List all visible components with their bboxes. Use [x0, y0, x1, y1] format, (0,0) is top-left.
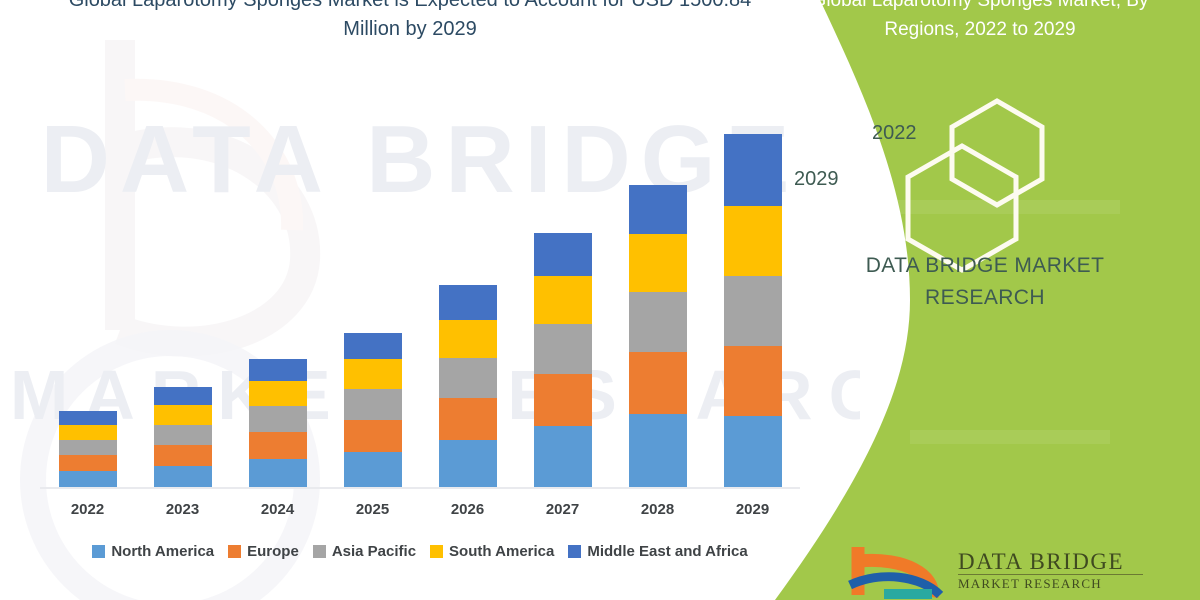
bar-segment[interactable] [534, 426, 592, 488]
chart-legend: North AmericaEuropeAsia PacificSouth Ame… [40, 538, 800, 564]
bar-group-2024[interactable] [249, 359, 307, 488]
hexagon-group [900, 85, 1120, 225]
bar-segment[interactable] [59, 455, 117, 471]
branding-panel: Global Laparotomy Sponges Market, By Reg… [760, 0, 1200, 600]
bar-segment[interactable] [534, 276, 592, 324]
company-logo: DATA BRIDGE MARKET RESEARCH [840, 545, 1170, 600]
bar-segment[interactable] [154, 387, 212, 405]
bar-segment[interactable] [629, 292, 687, 352]
bar-segment[interactable] [154, 425, 212, 445]
bar-segment[interactable] [249, 459, 307, 488]
bar-segment[interactable] [59, 471, 117, 488]
x-axis-label-2024: 2024 [249, 501, 307, 518]
legend-item[interactable]: Middle East and Africa [568, 543, 747, 560]
hexagon-2022-label: 2022 [872, 122, 917, 145]
bar-segment[interactable] [154, 445, 212, 466]
hexagon-2022-icon [952, 101, 1042, 205]
x-axis-label-2025: 2025 [344, 501, 402, 518]
bar-segment[interactable] [534, 374, 592, 426]
bar-group-2026[interactable] [439, 285, 497, 488]
hexagon-2029-label: 2029 [794, 168, 839, 191]
panel-title: Global Laparotomy Sponges Market, By Reg… [780, 0, 1180, 44]
x-axis-label-2028: 2028 [629, 501, 687, 518]
legend-swatch-icon [430, 545, 443, 558]
bar-segment[interactable] [59, 411, 117, 425]
bar-segment[interactable] [249, 432, 307, 459]
bar-segment[interactable] [154, 405, 212, 425]
legend-label: South America [449, 543, 554, 560]
bar-group-2028[interactable] [629, 185, 687, 488]
bar-segment[interactable] [629, 352, 687, 414]
legend-item[interactable]: South America [430, 543, 554, 560]
bar-segment[interactable] [439, 320, 497, 358]
bar-segment[interactable] [249, 406, 307, 432]
bar-segment[interactable] [629, 185, 687, 234]
bar-segment[interactable] [249, 359, 307, 381]
bar-group-2027[interactable] [534, 233, 592, 488]
bar-segment[interactable] [59, 425, 117, 440]
bar-segment[interactable] [344, 333, 402, 359]
bar-segment[interactable] [439, 398, 497, 440]
hexagons-icon [900, 85, 1120, 275]
logo-tagline: MARKET RESEARCH [958, 576, 1102, 592]
bar-segment[interactable] [439, 440, 497, 488]
legend-label: North America [111, 543, 214, 560]
legend-item[interactable]: North America [92, 543, 214, 560]
bar-segment[interactable] [439, 285, 497, 320]
bar-segment[interactable] [534, 324, 592, 374]
plot-area [40, 120, 800, 488]
bar-group-2022[interactable] [59, 411, 117, 488]
legend-label: Asia Pacific [332, 543, 416, 560]
bar-segment[interactable] [344, 452, 402, 488]
legend-label: Middle East and Africa [587, 543, 747, 560]
bar-segment[interactable] [154, 466, 212, 488]
legend-swatch-icon [92, 545, 105, 558]
legend-swatch-icon [313, 545, 326, 558]
x-axis-label-2026: 2026 [439, 501, 497, 518]
bar-segment[interactable] [439, 358, 497, 398]
bridge-logo-icon [840, 545, 950, 600]
bar-segment[interactable] [534, 233, 592, 276]
bar-segment[interactable] [629, 234, 687, 292]
bar-group-2023[interactable] [154, 387, 212, 488]
bar-segment[interactable] [344, 420, 402, 452]
x-axis-label-2023: 2023 [154, 501, 212, 518]
chart-panel: DATA BRIDGE MARKET RESEARCH Global Lapar… [0, 0, 860, 600]
bar-segment[interactable] [249, 381, 307, 406]
legend-label: Europe [247, 543, 299, 560]
x-axis-label-2027: 2027 [534, 501, 592, 518]
bar-segment[interactable] [344, 389, 402, 420]
legend-item[interactable]: Asia Pacific [313, 543, 416, 560]
legend-item[interactable]: Europe [228, 543, 299, 560]
bar-segment[interactable] [629, 414, 687, 488]
bar-group-2025[interactable] [344, 333, 402, 488]
legend-swatch-icon [568, 545, 581, 558]
axis-baseline [40, 487, 800, 489]
legend-swatch-icon [228, 545, 241, 558]
bar-segment[interactable] [59, 440, 117, 455]
brand-name: DATA BRIDGE MARKET RESEARCH [820, 250, 1150, 314]
x-axis-labels: 20222023202420252026202720282029 [40, 498, 800, 524]
page-title: Global Laparotomy Sponges Market is Expe… [60, 0, 760, 44]
logo-divider [958, 574, 1143, 575]
logo-wordmark: DATA BRIDGE [958, 549, 1124, 575]
x-axis-label-2022: 2022 [59, 501, 117, 518]
bar-segment[interactable] [344, 359, 402, 389]
